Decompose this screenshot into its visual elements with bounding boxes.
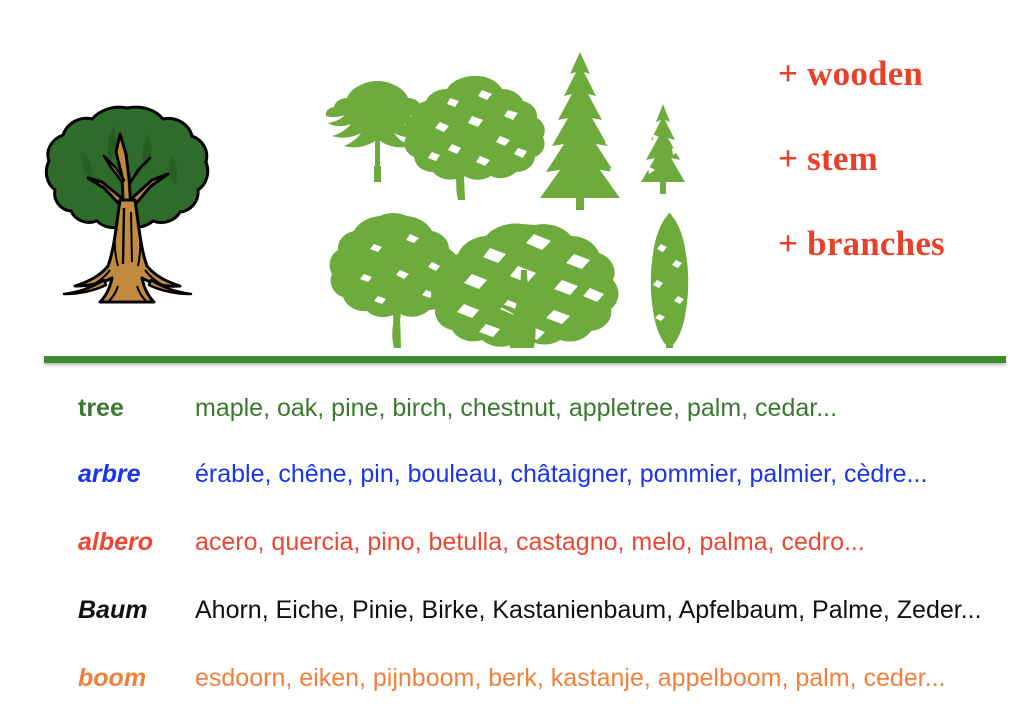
plus-sign: +	[778, 54, 798, 93]
word-list-german: Ahorn, Eiche, Pinie, Birke, Kastanienbau…	[195, 596, 982, 625]
feature-item-wooden: +wooden	[778, 56, 923, 91]
feature-item-branches: +branches	[778, 226, 945, 261]
language-label-french: arbre	[78, 460, 141, 489]
language-table: tree maple, oak, pine, birch, chestnut, …	[0, 372, 1024, 714]
language-label-german: Baum	[78, 596, 147, 625]
oak-tree-illustration	[44, 104, 210, 316]
word-list-english: maple, oak, pine, birch, chestnut, apple…	[195, 394, 837, 423]
small-fir-silhouette	[641, 104, 685, 194]
language-label-italian: albero	[78, 528, 153, 557]
plus-sign: +	[778, 224, 798, 263]
table-row: boom esdoorn, eiken, pijnboom, berk, kas…	[0, 644, 1024, 712]
feature-label: branches	[807, 224, 945, 263]
table-row: tree maple, oak, pine, birch, chestnut, …	[0, 374, 1024, 442]
word-list-french: érable, chêne, pin, bouleau, châtaigner,…	[195, 460, 927, 489]
feature-label: stem	[807, 139, 878, 178]
table-row: Baum Ahorn, Eiche, Pinie, Birke, Kastani…	[0, 576, 1024, 644]
section-divider	[44, 356, 1006, 363]
feature-item-stem: +stem	[778, 141, 878, 176]
large-fir-silhouette	[540, 52, 620, 210]
table-row: arbre érable, chêne, pin, bouleau, châta…	[0, 440, 1024, 508]
table-row: albero acero, quercia, pino, betulla, ca…	[0, 508, 1024, 576]
language-label-dutch: boom	[78, 664, 146, 693]
word-list-italian: acero, quercia, pino, betulla, castagno,…	[195, 528, 865, 557]
feature-label: wooden	[807, 54, 923, 93]
plus-sign: +	[778, 139, 798, 178]
broadleaf-tree-silhouette	[404, 76, 545, 200]
language-label-english: tree	[78, 394, 124, 423]
tree-silhouette-group	[322, 48, 712, 348]
spreading-oak-silhouette	[431, 224, 618, 348]
feature-list: +wooden +stem +branches	[770, 42, 1024, 272]
cypress-silhouette	[651, 213, 689, 348]
word-list-dutch: esdoorn, eiken, pijnboom, berk, kastanje…	[195, 664, 945, 693]
